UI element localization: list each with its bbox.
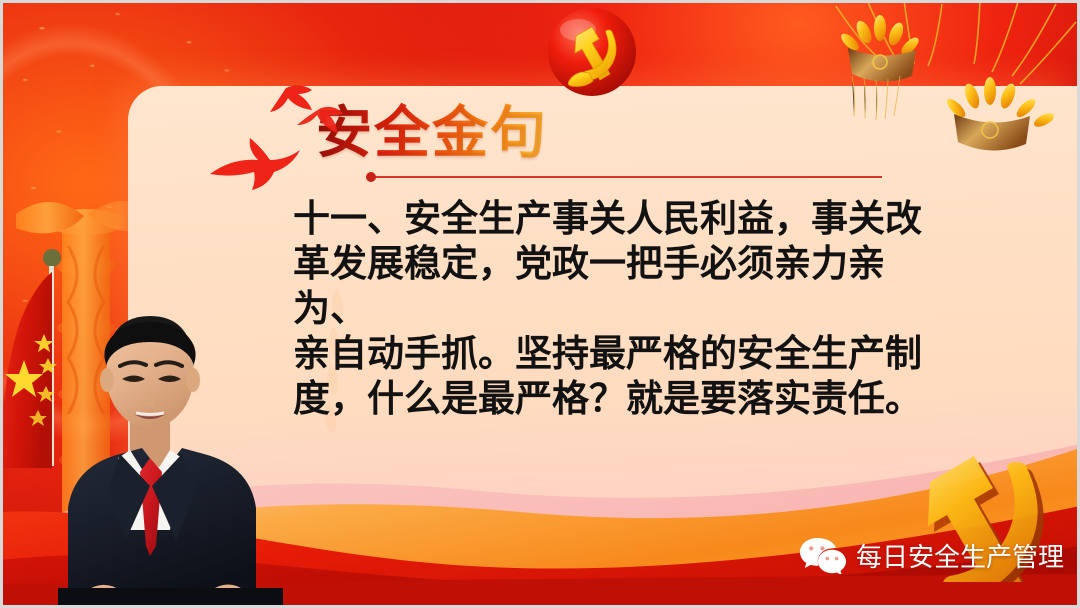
quote-line: 革发展稳定，党政一把手必须亲力亲为、: [293, 241, 933, 331]
page-title: 安全金句: [316, 88, 548, 169]
watermark-label: 每日安全生产管理: [856, 537, 1064, 574]
slide-canvas: 安全金句 十一、安全生产事关人民利益，事关改 革发展稳定，党政一把手必须亲力亲为…: [0, 0, 1080, 608]
leader-portrait: [58, 300, 283, 608]
quote-body: 十一、安全生产事关人民利益，事关改 革发展稳定，党政一把手必须亲力亲为、 亲自动…: [293, 196, 933, 421]
hammer-sickle-badge-icon: [546, 6, 638, 98]
title-divider: [372, 176, 882, 178]
quote-line: 亲自动手抓。坚持最严格的安全生产制: [293, 331, 933, 376]
quote-line: 度，什么是最严格？就是要落实责任。: [293, 376, 933, 421]
peace-dove-icon: [196, 78, 346, 204]
wechat-icon: [800, 536, 846, 574]
quote-line: 十一、安全生产事关人民利益，事关改: [293, 196, 933, 241]
golden-firework-icon: [820, 0, 1080, 160]
watermark: 每日安全生产管理: [800, 536, 1064, 574]
divider-dot: [366, 172, 376, 182]
